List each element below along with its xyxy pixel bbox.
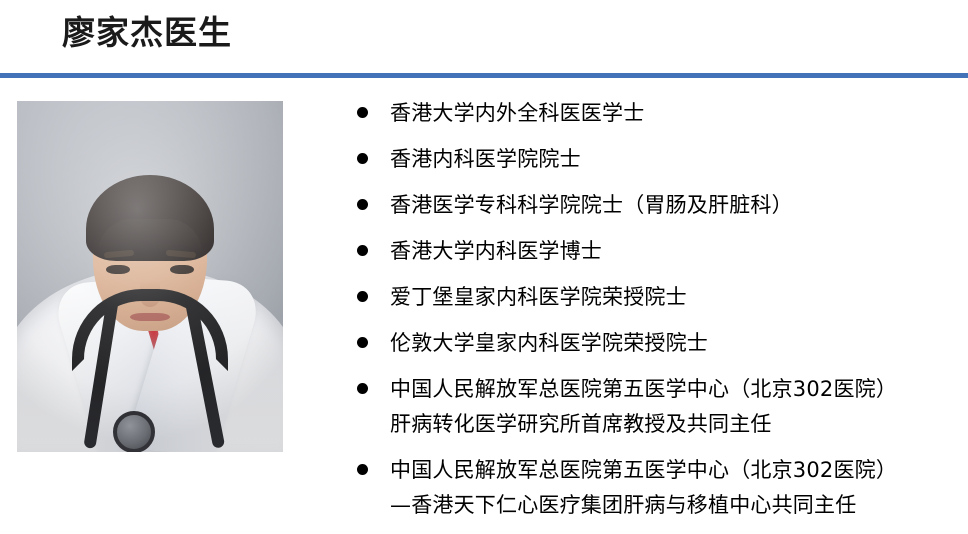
credential-text: 香港内科医学院院士 <box>390 147 581 171</box>
credential-text: 香港大学内科医学博士 <box>390 239 602 263</box>
bullet-icon <box>357 107 368 118</box>
doctor-portrait-photo <box>17 101 283 452</box>
list-item: 爱丁堡皇家内科医学院荣授院士 <box>352 280 952 315</box>
list-item: 香港大学内外全科医医学士 <box>352 96 952 131</box>
bullet-icon <box>357 464 368 475</box>
list-item: 香港医学专科科学院院士（胃肠及肝脏科） <box>352 188 952 223</box>
credentials-list: 香港大学内外全科医医学士 香港内科医学院院士 香港医学专科科学院院士（胃肠及肝脏… <box>352 96 952 534</box>
list-item: 香港内科医学院院士 <box>352 142 952 177</box>
credential-text: 爱丁堡皇家内科医学院荣授院士 <box>390 285 687 309</box>
credential-text: 香港医学专科科学院院士（胃肠及肝脏科） <box>390 193 793 217</box>
portrait-vignette <box>17 101 283 452</box>
credential-text-continuation: —香港天下仁心医疗集团肝病与移植中心共同主任 <box>390 488 952 523</box>
portrait-scene <box>17 101 283 452</box>
list-item: 伦敦大学皇家内科医学院荣授院士 <box>352 326 952 361</box>
credential-text: 香港大学内外全科医医学士 <box>390 101 644 125</box>
bullet-icon <box>357 199 368 210</box>
bullet-icon <box>357 337 368 348</box>
page-title: 廖家杰医生 <box>62 10 232 56</box>
list-item: 中国人民解放军总医院第五医学中心（北京302医院） 肝病转化医学研究所首席教授及… <box>352 372 952 442</box>
credential-text: 伦敦大学皇家内科医学院荣授院士 <box>390 331 708 355</box>
credential-text: 中国人民解放军总医院第五医学中心（北京302医院） <box>390 377 897 401</box>
bullet-icon <box>357 153 368 164</box>
bullet-icon <box>357 291 368 302</box>
title-divider-rule <box>0 73 968 78</box>
bullet-icon <box>357 383 368 394</box>
list-item: 香港大学内科医学博士 <box>352 234 952 269</box>
credential-text: 中国人民解放军总医院第五医学中心（北京302医院） <box>390 458 897 482</box>
bullet-icon <box>357 245 368 256</box>
slide-root: 廖家杰医生 香港大学内外全科医医学士 <box>0 0 968 464</box>
credential-text-continuation: 肝病转化医学研究所首席教授及共同主任 <box>390 407 952 442</box>
